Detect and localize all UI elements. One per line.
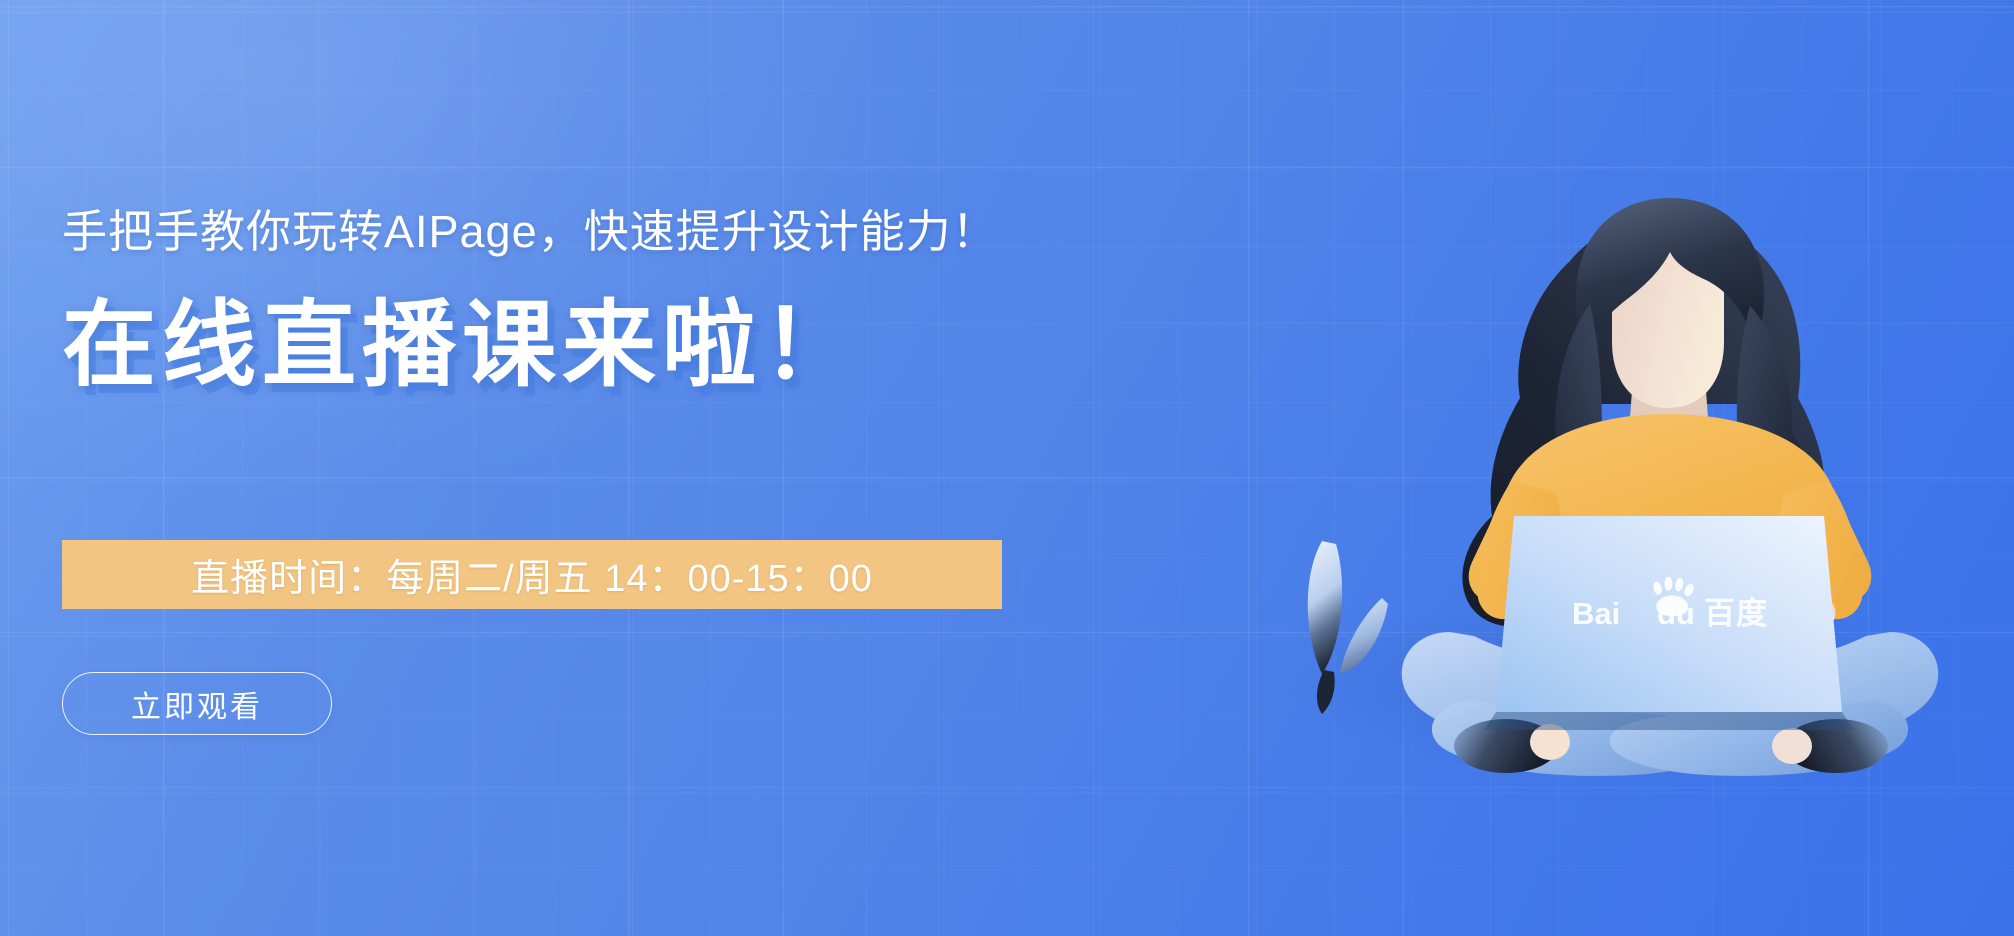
baidu-logo-latin-right: du <box>1657 596 1695 631</box>
pants-upper-left <box>1402 632 1734 750</box>
watch-now-button-label: 立即观看 <box>131 682 263 726</box>
left-hand <box>1501 583 1563 637</box>
background-grid <box>0 0 2014 936</box>
baidu-logo-chinese: 百度 <box>1704 596 1768 631</box>
schedule-text: 直播时间：每周二/周五 14：00-15：00 <box>191 547 873 602</box>
left-ankle-skin <box>1530 724 1570 760</box>
face <box>1612 228 1724 408</box>
laptop: Bai du 百度 <box>1484 516 1854 730</box>
ground-shadow <box>1289 591 1959 781</box>
hair-right-lock <box>1737 306 1838 622</box>
background-fine-grid <box>0 0 2014 936</box>
right-foot <box>1784 719 1888 773</box>
pants-lower-right <box>1610 700 1908 776</box>
background-bloom <box>0 0 2014 936</box>
hair-front <box>1576 198 1764 348</box>
hair-left-lock <box>1504 304 1602 631</box>
sweater-left-sleeve <box>1478 480 1564 619</box>
right-hand <box>1779 583 1841 637</box>
left-foot <box>1454 719 1558 773</box>
neck <box>1628 362 1710 476</box>
right-ankle-skin <box>1772 728 1812 764</box>
promo-banner: 手把手教你玩转AIPage，快速提升设计能力！ 在线直播课来啦！ 直播时间：每周… <box>0 0 2014 936</box>
laptop-base-shadow <box>1484 712 1854 730</box>
paw-print-icon <box>1652 577 1696 616</box>
laptop-screen <box>1496 516 1842 712</box>
banner-text-block: 手把手教你玩转AIPage，快速提升设计能力！ 在线直播课来啦！ <box>62 205 1162 396</box>
baidu-logo: Bai du 百度 <box>1572 577 1768 631</box>
baidu-logo-latin-left: Bai <box>1572 596 1620 631</box>
hero-illustration: Bai du 百度 <box>1264 146 1984 836</box>
pants-lower-left <box>1432 700 1730 776</box>
sweater-right-sleeve <box>1777 480 1863 619</box>
banner-subtitle: 手把手教你玩转AIPage，快速提升设计能力！ <box>62 205 1162 258</box>
watch-now-button[interactable]: 立即观看 <box>62 672 332 735</box>
sweater-body <box>1469 414 1872 654</box>
hair-back <box>1462 217 1850 626</box>
banner-headline: 在线直播课来啦！ <box>62 294 1162 396</box>
pants-upper-right <box>1606 632 1938 750</box>
schedule-banner: 直播时间：每周二/周五 14：00-15：00 <box>62 540 1002 609</box>
decorative-leaf <box>1308 541 1388 714</box>
